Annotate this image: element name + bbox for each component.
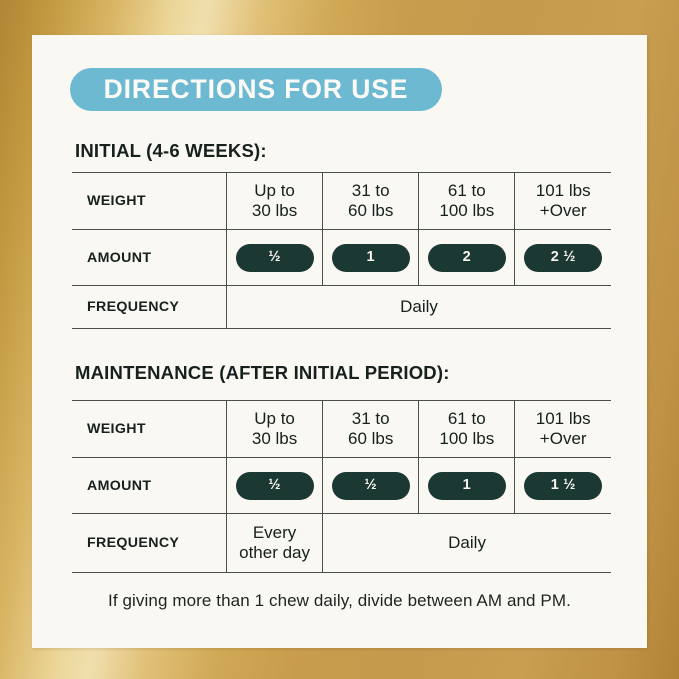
weight-cell-3-line2: 100 lbs	[419, 201, 514, 221]
frequency-cell-1-line2: other day	[227, 543, 322, 563]
amount-cell-1: ½	[227, 230, 323, 286]
dosing-table-initial: WEIGHT Up to 30 lbs 31 to 60 lbs 61 to 1…	[72, 172, 611, 329]
row-label-frequency: FREQUENCY	[72, 286, 227, 329]
page-title: DIRECTIONS FOR USE	[104, 76, 409, 103]
weight-cell-1-line2: 30 lbs	[227, 429, 322, 449]
row-label-frequency: FREQUENCY	[72, 514, 227, 573]
amount-cell-2: 1	[323, 230, 419, 286]
weight-cell-4-line2: +Over	[515, 429, 611, 449]
row-label-amount: AMOUNT	[72, 458, 227, 514]
dose-pill: 1 ½	[524, 472, 602, 500]
weight-cell-4-line1: 101 lbs	[515, 409, 611, 429]
row-label-amount: AMOUNT	[72, 230, 227, 286]
dose-pill: 2 ½	[524, 244, 602, 272]
dose-pill: ½	[332, 472, 410, 500]
weight-cell-3-line1: 61 to	[419, 181, 514, 201]
dose-pill: 1	[428, 472, 506, 500]
weight-cell-3-line2: 100 lbs	[419, 429, 514, 449]
section-heading-initial: INITIAL (4-6 WEEKS):	[75, 140, 267, 162]
weight-cell-1-line2: 30 lbs	[227, 201, 322, 221]
weight-cell-4-line2: +Over	[515, 201, 611, 221]
frequency-value-all: Daily	[227, 286, 612, 329]
amount-cell-4: 2 ½	[515, 230, 611, 286]
weight-cell-4: 101 lbs +Over	[515, 173, 611, 230]
weight-cell-2: 31 to 60 lbs	[323, 401, 419, 458]
weight-cell-2-line1: 31 to	[323, 409, 418, 429]
amount-cell-3: 1	[419, 458, 515, 514]
directions-for-use-badge: DIRECTIONS FOR USE	[70, 68, 442, 111]
amount-cell-2: ½	[323, 458, 419, 514]
row-label-weight: WEIGHT	[72, 401, 227, 458]
table-row: FREQUENCY Every other day Daily	[72, 514, 611, 573]
weight-cell-3: 61 to 100 lbs	[419, 401, 515, 458]
weight-cell-1: Up to 30 lbs	[227, 401, 323, 458]
frequency-cell-1: Every other day	[227, 514, 323, 573]
amount-cell-1: ½	[227, 458, 323, 514]
directions-panel: DIRECTIONS FOR USE INITIAL (4-6 WEEKS): …	[32, 35, 647, 648]
product-label-image: DIRECTIONS FOR USE INITIAL (4-6 WEEKS): …	[0, 0, 679, 679]
weight-cell-2-line2: 60 lbs	[323, 201, 418, 221]
dosing-table-maintenance: WEIGHT Up to 30 lbs 31 to 60 lbs 61 to 1…	[72, 400, 611, 573]
dose-pill: ½	[236, 244, 314, 272]
dose-pill: 2	[428, 244, 506, 272]
weight-cell-2-line2: 60 lbs	[323, 429, 418, 449]
weight-cell-1: Up to 30 lbs	[227, 173, 323, 230]
weight-cell-3: 61 to 100 lbs	[419, 173, 515, 230]
weight-cell-1-line1: Up to	[227, 181, 322, 201]
amount-cell-4: 1 ½	[515, 458, 611, 514]
frequency-cell-1-line1: Every	[227, 523, 322, 543]
frequency-value-rest: Daily	[323, 514, 611, 573]
table-row: FREQUENCY Daily	[72, 286, 611, 329]
dose-pill: 1	[332, 244, 410, 272]
row-label-weight: WEIGHT	[72, 173, 227, 230]
section-heading-maintenance: MAINTENANCE (AFTER INITIAL PERIOD):	[75, 362, 450, 384]
dose-pill: ½	[236, 472, 314, 500]
table-row: AMOUNT ½ ½ 1 1 ½	[72, 458, 611, 514]
amount-cell-3: 2	[419, 230, 515, 286]
table-row: WEIGHT Up to 30 lbs 31 to 60 lbs 61 to 1…	[72, 173, 611, 230]
footer-note: If giving more than 1 chew daily, divide…	[32, 591, 647, 611]
weight-cell-3-line1: 61 to	[419, 409, 514, 429]
weight-cell-2-line1: 31 to	[323, 181, 418, 201]
weight-cell-4-line1: 101 lbs	[515, 181, 611, 201]
weight-cell-2: 31 to 60 lbs	[323, 173, 419, 230]
weight-cell-1-line1: Up to	[227, 409, 322, 429]
table-row: AMOUNT ½ 1 2 2 ½	[72, 230, 611, 286]
table-row: WEIGHT Up to 30 lbs 31 to 60 lbs 61 to 1…	[72, 401, 611, 458]
weight-cell-4: 101 lbs +Over	[515, 401, 611, 458]
